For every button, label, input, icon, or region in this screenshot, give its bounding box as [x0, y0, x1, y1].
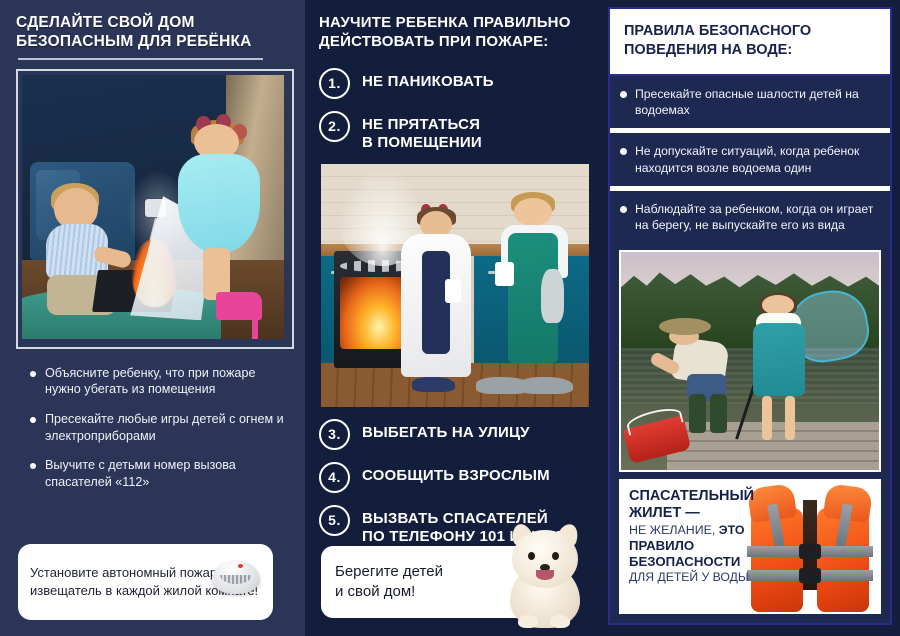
title-divider [18, 58, 263, 60]
column2-title-line2: ДЕЙСТВОВАТЬ ПРИ ПОЖАРЕ: [319, 33, 590, 52]
life-vest-text: СПАСАТЕЛЬНЫЙ ЖИЛЕТ — НЕ ЖЕЛАНИЕ, ЭТО ПРА… [629, 488, 789, 585]
column3-title-line1: ПРАВИЛА БЕЗОПАСНОГО [624, 23, 811, 39]
list-item: Наблюдайте за ребенком, когда он играет … [610, 191, 890, 244]
column-home-safety: СДЕЛАЙТЕ СВОЙ ДОМ БЕЗОПАСНЫМ ДЛЯ РЕБЁНКА [0, 0, 305, 636]
photo-burning-oven [321, 164, 589, 407]
list-item: 3. ВЫБЕГАТЬ НА УЛИЦУ [319, 419, 590, 450]
bullet-dot-icon [30, 371, 36, 377]
photo-burning-laptop-image [22, 75, 284, 339]
bullet-text: Наблюдайте за ребенком, когда он играет … [635, 201, 878, 234]
bullet-dot-icon [620, 148, 627, 155]
vest-line2: НЕ ЖЕЛАНИЕ, ЭТО [629, 523, 789, 538]
callout-line1: Берегите детей [335, 563, 443, 580]
dog-icon [496, 520, 592, 628]
photo-children-at-lake [619, 250, 881, 472]
step-line1: ВЫБЕГАТЬ НА УЛИЦУ [362, 424, 530, 441]
bullet-text: Пресекайте любые игры детей с огнем и эл… [45, 411, 285, 444]
step-number-badge: 2. [319, 111, 350, 142]
vest-line3: ПРАВИЛО [629, 538, 789, 554]
step-number-badge: 4. [319, 462, 350, 493]
bullet-text: Не допускайте ситуаций, когда ребенок на… [635, 143, 878, 176]
step-line1: СООБЩИТЬ ВЗРОСЛЫМ [362, 467, 550, 484]
column1-title-line1: СДЕЛАЙТЕ СВОЙ ДОМ [16, 14, 293, 33]
list-item: 4. СООБЩИТЬ ВЗРОСЛЫМ [319, 462, 590, 493]
column3-title: ПРАВИЛА БЕЗОПАСНОГО ПОВЕДЕНИЯ НА ВОДЕ: [624, 22, 876, 60]
column1-bullet-list: Объясните ребенку, что при пожаре нужно … [30, 365, 285, 491]
list-item: Выучите с детьми номер вызова спасателей… [30, 457, 285, 490]
step-line1: НЕ ПРЯТАТЬСЯ [362, 116, 480, 133]
steps-list-top: 1. НЕ ПАНИКОВАТЬ 2. НЕ ПРЯТАТЬСЯ В ПОМЕЩ… [319, 68, 590, 152]
step-number-badge: 5. [319, 505, 350, 536]
bullet-dot-icon [620, 206, 627, 213]
step-text: НЕ ПАНИКОВАТЬ [362, 68, 494, 91]
photo-burning-laptop [16, 69, 294, 349]
column3-bullet-list: Пресекайте опасные шалости детей на водо… [610, 76, 890, 244]
vest-line2-bold: ЭТО [719, 523, 745, 537]
list-item: Пресекайте любые игры детей с огнем и эл… [30, 411, 285, 444]
vest-line4: БЕЗОПАСНОСТИ [629, 554, 789, 570]
list-item: Пресекайте опасные шалости детей на водо… [610, 76, 890, 129]
step-line1: НЕ ПАНИКОВАТЬ [362, 73, 494, 90]
vest-line1: СПАСАТЕЛЬНЫЙ ЖИЛЕТ — [629, 488, 789, 522]
water-safety-panel: ПРАВИЛА БЕЗОПАСНОГО ПОВЕДЕНИЯ НА ВОДЕ: П… [608, 7, 892, 625]
list-item: Не допускайте ситуаций, когда ребенок на… [610, 133, 890, 186]
column1-title: СДЕЛАЙТЕ СВОЙ ДОМ БЕЗОПАСНЫМ ДЛЯ РЕБЁНКА [16, 14, 293, 52]
vest-line5: ДЛЯ ДЕТЕЙ У ВОДЫ [629, 570, 789, 585]
life-vest-block: СПАСАТЕЛЬНЫЙ ЖИЛЕТ — НЕ ЖЕЛАНИЕ, ЭТО ПРА… [619, 479, 881, 614]
step-text: СООБЩИТЬ ВЗРОСЛЫМ [362, 462, 550, 485]
list-item: 1. НЕ ПАНИКОВАТЬ [319, 68, 590, 99]
bullet-text: Объясните ребенку, что при пожаре нужно … [45, 365, 285, 398]
callout-line2: и свой дом! [335, 583, 415, 600]
smoke-detector-callout: Установите автономный пожарный извещател… [18, 544, 273, 620]
column-fire-actions: НАУЧИТЕ РЕБЕНКА ПРАВИЛЬНО ДЕЙСТВОВАТЬ ПР… [305, 0, 600, 636]
step-text: ВЫБЕГАТЬ НА УЛИЦУ [362, 419, 530, 442]
vest-line2-regular: НЕ ЖЕЛАНИЕ, [629, 523, 719, 537]
column-water-safety: ПРАВИЛА БЕЗОПАСНОГО ПОВЕДЕНИЯ НА ВОДЕ: П… [600, 0, 900, 636]
safety-poster: СДЕЛАЙТЕ СВОЙ ДОМ БЕЗОПАСНЫМ ДЛЯ РЕБЁНКА [0, 0, 900, 636]
bullet-dot-icon [30, 417, 36, 423]
column3-title-line2: ПОВЕДЕНИЯ НА ВОДЕ: [624, 42, 792, 58]
step-line2: В ПОМЕЩЕНИИ [362, 134, 482, 151]
list-item: 2. НЕ ПРЯТАТЬСЯ В ПОМЕЩЕНИИ [319, 111, 590, 152]
bullet-dot-icon [30, 463, 36, 469]
column3-header: ПРАВИЛА БЕЗОПАСНОГО ПОВЕДЕНИЯ НА ВОДЕ: [610, 9, 890, 76]
callout-text: Берегите детей и свой дом! [335, 562, 443, 603]
step-number-badge: 1. [319, 68, 350, 99]
bullet-text: Выучите с детьми номер вызова спасателей… [45, 457, 285, 490]
step-text: НЕ ПРЯТАТЬСЯ В ПОМЕЩЕНИИ [362, 111, 482, 152]
list-item: Объясните ребенку, что при пожаре нужно … [30, 365, 285, 398]
bullet-dot-icon [620, 91, 627, 98]
smoke-detector-icon [208, 556, 264, 602]
column2-title: НАУЧИТЕ РЕБЕНКА ПРАВИЛЬНО ДЕЙСТВОВАТЬ ПР… [319, 14, 590, 52]
step-number-badge: 3. [319, 419, 350, 450]
column2-title-line1: НАУЧИТЕ РЕБЕНКА ПРАВИЛЬНО [319, 14, 590, 33]
column1-title-line2: БЕЗОПАСНЫМ ДЛЯ РЕБЁНКА [16, 33, 293, 52]
bullet-text: Пресекайте опасные шалости детей на водо… [635, 86, 878, 119]
